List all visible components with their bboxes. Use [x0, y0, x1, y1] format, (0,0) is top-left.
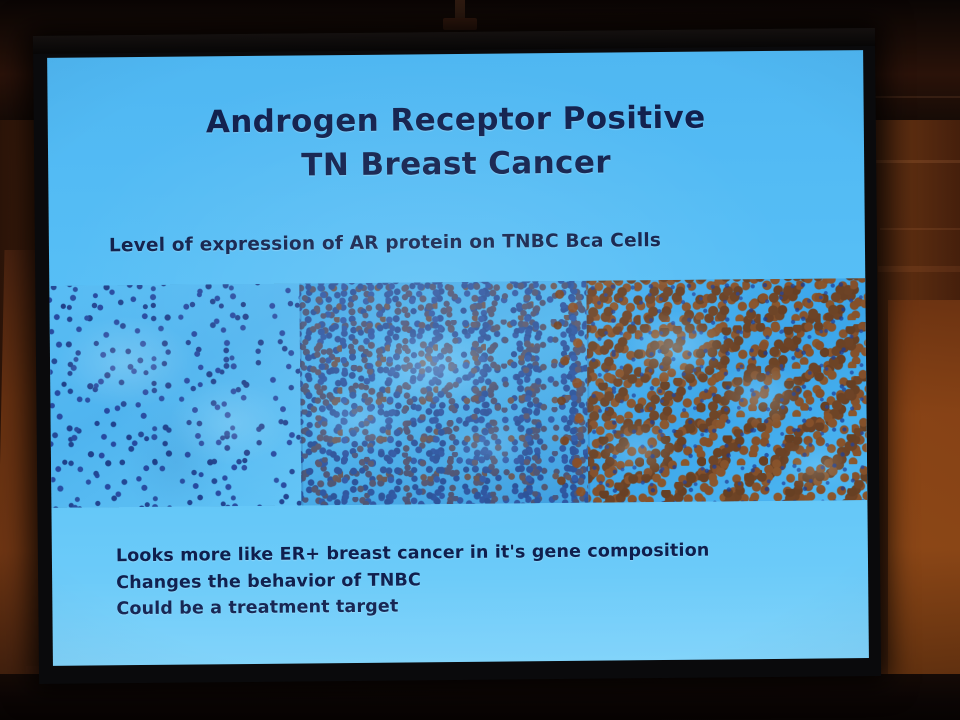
stroma-wash-middle	[299, 281, 588, 506]
slide-title-line-2: TN Breast Cancer	[48, 138, 864, 190]
conference-room-photo: Androgen Receptor Positive TN Breast Can…	[0, 0, 960, 720]
slide-title: Androgen Receptor Positive TN Breast Can…	[48, 94, 865, 190]
micrograph-panel-intermediate	[299, 281, 588, 506]
projection-screen-frame: Androgen Receptor Positive TN Breast Can…	[33, 28, 881, 684]
micrograph-panel-negative	[49, 284, 301, 508]
wall-panel-line	[878, 266, 960, 272]
slide-bullet-3: Could be a treatment target	[116, 590, 836, 624]
ceiling-mount-plate	[443, 18, 477, 30]
wall-lit-panel-right	[888, 300, 960, 680]
micrograph-panel-strong-positive	[586, 278, 867, 503]
micrograph-strip	[49, 278, 867, 508]
slide-bullet-list: Looks more like ER+ breast cancer in it'…	[116, 536, 837, 623]
wall-panel-line	[880, 228, 960, 230]
slide-title-line-1: Androgen Receptor Positive	[48, 94, 864, 146]
brown-stained-cluster-edge	[546, 281, 588, 503]
presentation-slide: Androgen Receptor Positive TN Breast Can…	[47, 50, 869, 666]
stroma-wash-right	[586, 278, 867, 503]
slide-subtitle: Level of expression of AR protein on TNB…	[109, 229, 809, 257]
stroma-wash-left	[49, 284, 301, 508]
